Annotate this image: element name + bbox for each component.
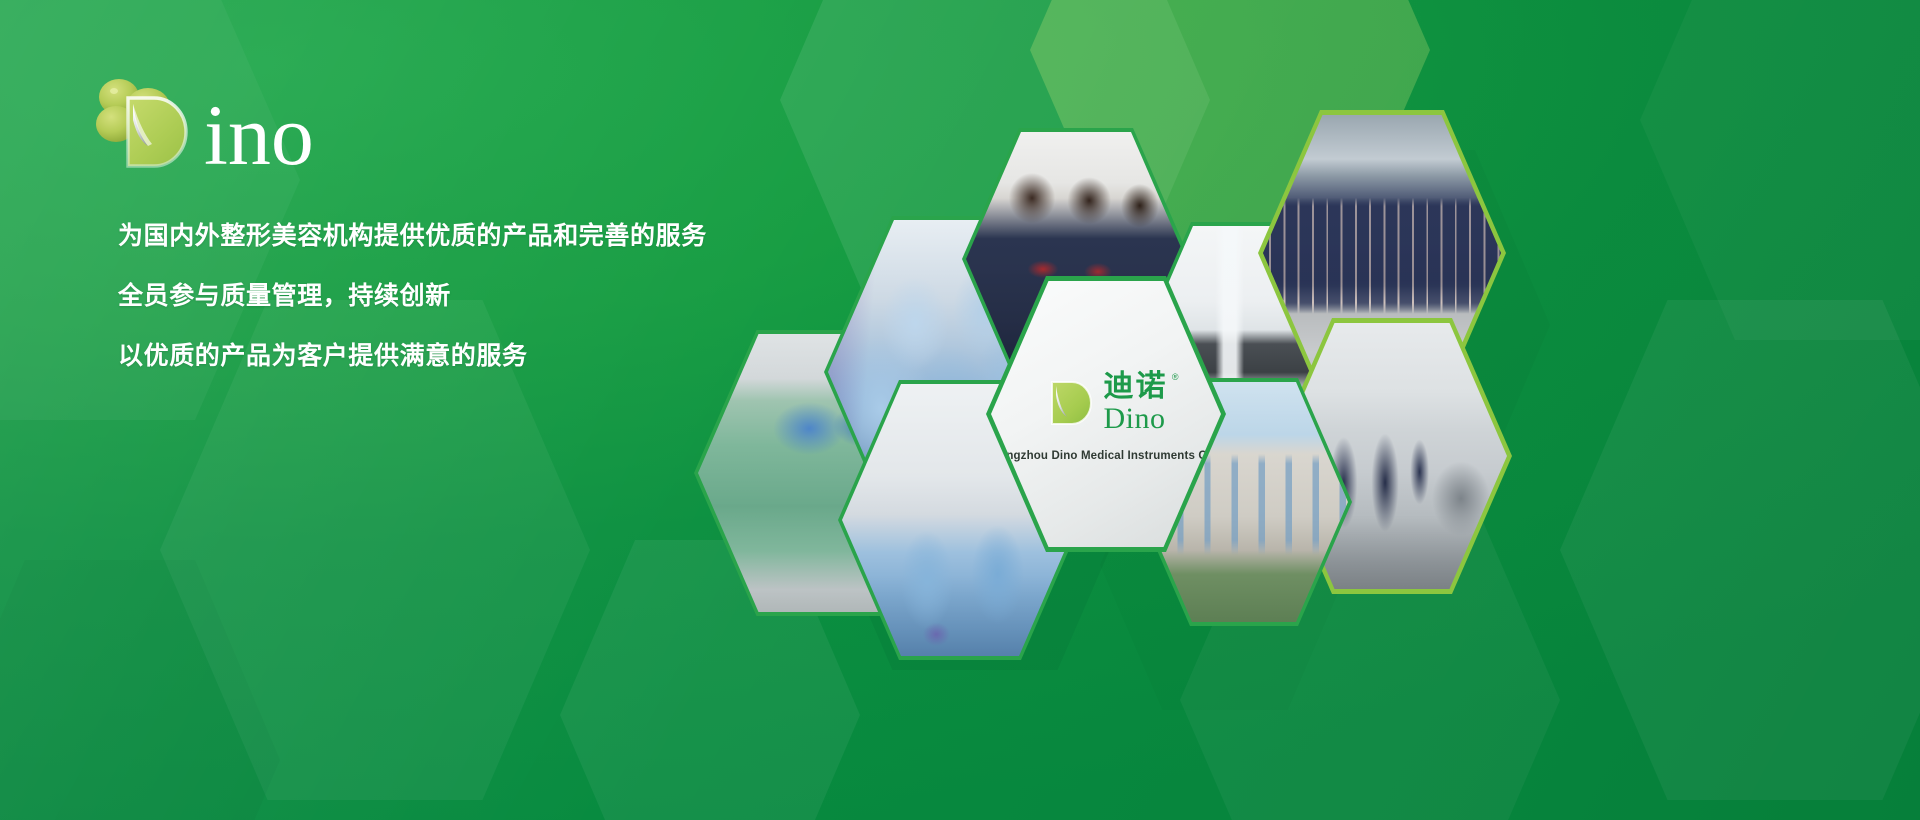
tagline-line-3: 以优质的产品为客户提供满意的服务 bbox=[118, 336, 707, 372]
hero-tagline: 为国内外整形美容机构提供优质的产品和完善的服务 全员参与质量管理，持续创新 以优… bbox=[118, 216, 707, 372]
tagline-line-1: 为国内外整形美容机构提供优质的产品和完善的服务 bbox=[118, 216, 707, 252]
center-logo-cn-name: 迪诺 bbox=[1104, 372, 1168, 402]
registered-trademark-icon: ® bbox=[1172, 372, 1179, 382]
center-logo-company-line: Hangzhou Dino Medical Instruments Co.. bbox=[991, 450, 1220, 462]
hero-text-column: ino 为国内外整形美容机构提供优质的产品和完善的服务 全员参与质量管理，持续创… bbox=[0, 0, 760, 820]
tagline-line-2: 全员参与质量管理，持续创新 bbox=[118, 276, 707, 312]
hero-banner: ino 为国内外整形美容机构提供优质的产品和完善的服务 全员参与质量管理，持续创… bbox=[0, 0, 1920, 820]
center-logo-text: 迪诺 ® Dino bbox=[1104, 372, 1168, 434]
dino-leaf-page-curl-logo: ino bbox=[92, 72, 422, 182]
center-logo-row: 迪诺 ® Dino bbox=[1045, 372, 1168, 434]
svg-text:ino: ino bbox=[204, 87, 314, 182]
center-logo-en-name: Dino bbox=[1104, 404, 1168, 434]
dino-leaf-page-curl-logo bbox=[1045, 377, 1095, 429]
bg-hexagon-decor bbox=[1640, 0, 1920, 340]
bg-hexagon-decor bbox=[1560, 300, 1920, 800]
